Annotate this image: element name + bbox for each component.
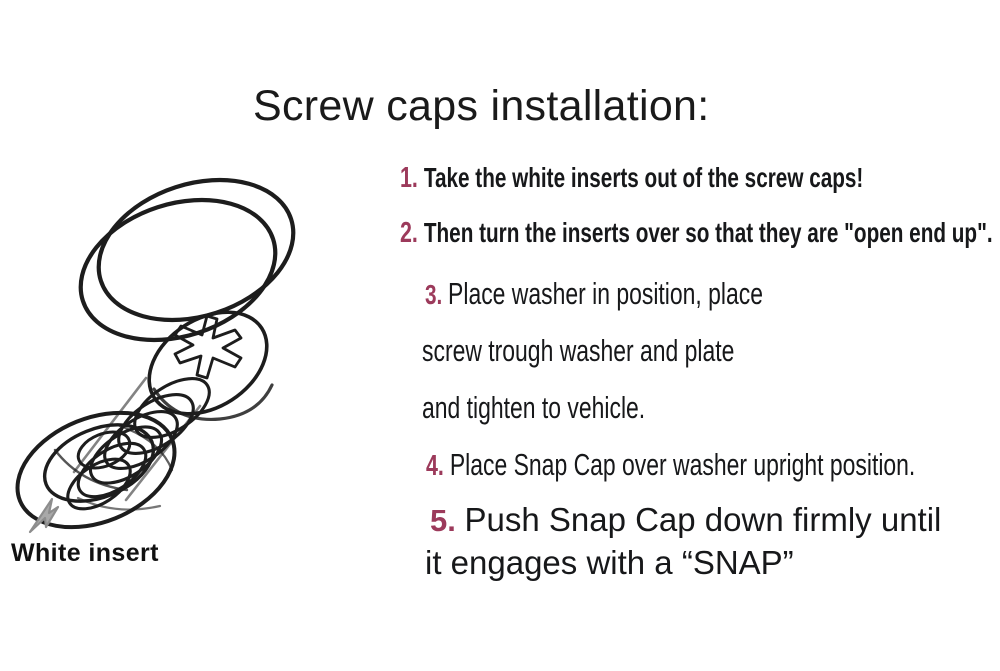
step-number-5: 5.	[430, 503, 464, 538]
step-text-3-line-3: and tighten to vehicle.	[422, 390, 645, 425]
step-number-2: 2.	[400, 217, 424, 249]
instruction-step-1: 1. Take the white inserts out of the scr…	[400, 164, 1000, 193]
step-number-4: 4.	[426, 450, 450, 482]
step-text-3-line-2: screw trough washer and plate	[422, 333, 734, 368]
instruction-step-3-line-3: and tighten to vehicle.	[422, 392, 724, 423]
instruction-list: 1. Take the white inserts out of the scr…	[0, 0, 1000, 671]
instruction-step-2: 2. Then turn the inserts over so that th…	[400, 219, 1000, 248]
step-number-1: 1.	[400, 162, 424, 194]
step-number-3: 3.	[425, 279, 448, 310]
instruction-graphic: Screw caps installation:	[0, 0, 1000, 671]
instruction-step-5-line-2: it engages with a “SNAP”	[425, 546, 794, 579]
step-text-3-line-1: Place washer in position, place	[448, 276, 763, 311]
step-text-2: Then turn the inserts over so that they …	[424, 217, 993, 248]
step-text-4: Place Snap Cap over washer upright posit…	[450, 447, 915, 482]
step-text-5-line-2: it engages with a “SNAP”	[425, 544, 794, 581]
instruction-step-3-line-2: screw trough washer and plate	[422, 335, 844, 366]
instruction-step-4: 4. Place Snap Cap over washer upright po…	[426, 449, 1000, 481]
instruction-step-3-line-1: 3. Place washer in position, place	[425, 278, 882, 309]
instruction-step-5-line-1: 5. Push Snap Cap down firmly until	[430, 503, 941, 536]
step-text-1: Take the white inserts out of the screw …	[424, 162, 863, 193]
step-text-5-line-1: Push Snap Cap down firmly until	[464, 501, 941, 538]
